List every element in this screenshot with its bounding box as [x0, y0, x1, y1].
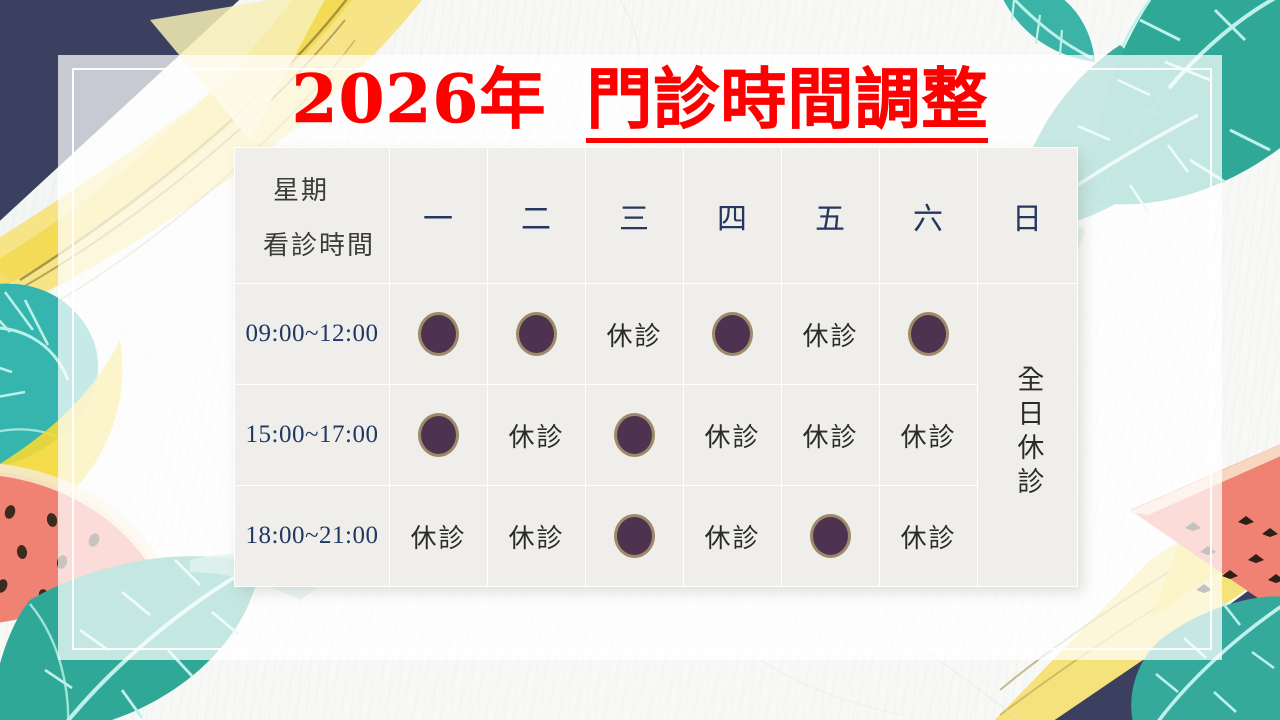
open-dot-icon: [418, 413, 459, 457]
closed-label: 休診: [704, 524, 760, 553]
slot-fri-afternoon: 休診: [782, 385, 880, 486]
slot-mon-morning: [390, 284, 488, 385]
slide-canvas: 2026年門診時間調整 星期 看診時間 一 二 三 四 五 六: [0, 0, 1280, 720]
slot-sat-afternoon: 休診: [880, 385, 978, 486]
slot-tue-afternoon: 休診: [488, 385, 586, 486]
closed-label: 休診: [508, 524, 564, 553]
slot-thu-evening: 休診: [684, 486, 782, 587]
open-dot-icon: [810, 514, 851, 558]
slot-sat-evening: 休診: [880, 486, 978, 587]
table-row: 09:00~12:00 休診 休診 全日休診: [235, 284, 1078, 385]
slot-sun-all-day: 全日休診: [978, 284, 1078, 587]
title-main: 門診時間調整: [586, 62, 988, 143]
day-header-tue: 二: [488, 148, 586, 284]
page-title: 2026年門診時間調整: [0, 62, 1280, 143]
closed-label: 休診: [802, 322, 858, 351]
open-dot-icon: [516, 312, 557, 356]
time-slot-evening: 18:00~21:00: [235, 486, 390, 587]
title-year: 2026年: [292, 62, 547, 136]
clinic-schedule-table: 星期 看診時間 一 二 三 四 五 六 日 09:00~12:00 休診 休診: [234, 147, 1078, 587]
corner-label-consult-time: 看診時間: [235, 225, 389, 262]
day-header-mon: 一: [390, 148, 488, 284]
table-row: 15:00~17:00 休診 休診 休診 休診: [235, 385, 1078, 486]
open-dot-icon: [614, 413, 655, 457]
table-header-row: 星期 看診時間 一 二 三 四 五 六 日: [235, 148, 1078, 284]
closed-label: 休診: [900, 524, 956, 553]
corner-label-weekday: 星期: [235, 170, 389, 207]
sunday-closed-label: 全日休診: [1013, 365, 1043, 501]
closed-label: 休診: [704, 423, 760, 452]
day-header-fri: 五: [782, 148, 880, 284]
table-row: 18:00~21:00 休診 休診 休診 休診: [235, 486, 1078, 587]
slot-thu-afternoon: 休診: [684, 385, 782, 486]
open-dot-icon: [614, 514, 655, 558]
day-header-wed: 三: [586, 148, 684, 284]
closed-label: 休診: [900, 423, 956, 452]
open-dot-icon: [418, 312, 459, 356]
closed-label: 休診: [802, 423, 858, 452]
slot-fri-morning: 休診: [782, 284, 880, 385]
day-header-sat: 六: [880, 148, 978, 284]
slot-wed-afternoon: [586, 385, 684, 486]
slot-sat-morning: [880, 284, 978, 385]
slot-fri-evening: [782, 486, 880, 587]
header-corner-cell: 星期 看診時間: [235, 148, 390, 284]
closed-label: 休診: [508, 423, 564, 452]
day-header-thu: 四: [684, 148, 782, 284]
time-slot-afternoon: 15:00~17:00: [235, 385, 390, 486]
slot-mon-afternoon: [390, 385, 488, 486]
open-dot-icon: [908, 312, 949, 356]
slot-wed-evening: [586, 486, 684, 587]
slot-tue-morning: [488, 284, 586, 385]
time-slot-morning: 09:00~12:00: [235, 284, 390, 385]
closed-label: 休診: [410, 524, 466, 553]
slot-tue-evening: 休診: [488, 486, 586, 587]
closed-label: 休診: [606, 322, 662, 351]
slot-mon-evening: 休診: [390, 486, 488, 587]
open-dot-icon: [712, 312, 753, 356]
day-header-sun: 日: [978, 148, 1078, 284]
slot-wed-morning: 休診: [586, 284, 684, 385]
slot-thu-morning: [684, 284, 782, 385]
